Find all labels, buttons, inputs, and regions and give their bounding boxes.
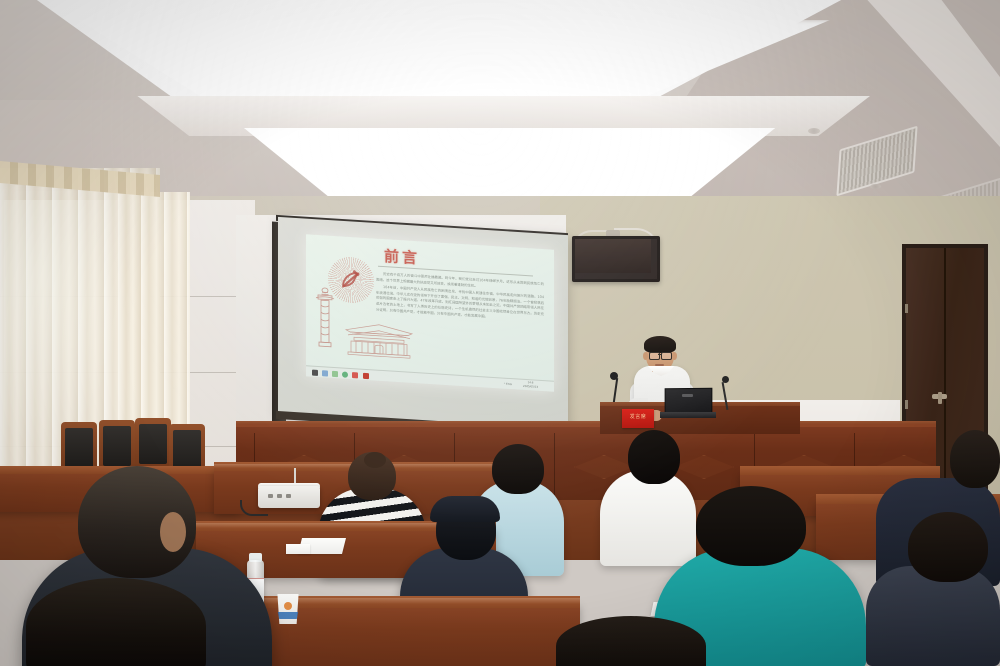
microphone-icon xyxy=(722,376,729,383)
cup-band xyxy=(277,612,299,619)
attendee-white-shirt xyxy=(600,470,696,566)
chair-cushion xyxy=(103,426,131,466)
handout-papers xyxy=(286,544,310,554)
speaker-mouth xyxy=(655,364,664,366)
projector-port xyxy=(277,494,282,498)
attendee-grey-suit xyxy=(866,566,1000,666)
eyeglasses-icon xyxy=(661,352,672,360)
door-lock-icon xyxy=(938,392,942,404)
door-hinge-icon xyxy=(905,400,908,409)
hair-bun xyxy=(364,452,386,468)
hammer-sickle-icon xyxy=(339,267,363,293)
clock-date: 2025/05/13 xyxy=(523,384,538,389)
door-hinge-icon xyxy=(905,304,908,313)
taskbar-clock[interactable]: 14:6 2025/05/13 xyxy=(523,381,538,389)
speaker-hair xyxy=(644,336,676,353)
projector-port xyxy=(268,494,273,498)
desk-top xyxy=(740,466,940,475)
speaker-nameplate: 发言席 xyxy=(622,409,654,428)
huabiao-column-icon xyxy=(314,285,336,348)
chair-cushion xyxy=(65,428,93,468)
conference-room-photo: 前言 历史有千百万人的奋斗中更声壮播撒幕。到今年，我们党已走过104年峥嵘岁月。… xyxy=(0,0,1000,666)
speaker-ear-left xyxy=(643,352,648,360)
attendee-front-left-head xyxy=(26,578,206,666)
laptop-keyboard[interactable] xyxy=(660,412,716,418)
attendee-light-blue-head xyxy=(492,444,544,494)
ear xyxy=(160,512,186,552)
baseball-cap-icon xyxy=(430,496,500,522)
downlight-icon xyxy=(808,128,820,134)
eyeglasses-bridge xyxy=(658,354,662,355)
start-icon[interactable] xyxy=(312,369,318,375)
laptop-logo-icon xyxy=(682,394,693,397)
chair-cushion xyxy=(139,424,167,464)
media-icon[interactable] xyxy=(352,372,358,378)
powerpoint-icon[interactable] xyxy=(363,372,369,378)
nameplate-text: 发言席 xyxy=(622,413,654,420)
tv-screen xyxy=(575,239,651,273)
attendee-teal-shirt-head xyxy=(696,486,806,566)
tray-language-indicator[interactable]: ^ ENG xyxy=(504,382,512,387)
panel-seam xyxy=(554,433,555,495)
projected-slide: 前言 历史有千百万人的奋斗中更声壮播撒幕。到今年，我们党已走过104年峥嵘岁月。… xyxy=(306,234,554,392)
chair-cushion xyxy=(173,430,201,470)
panel-diamond-motif xyxy=(674,455,734,479)
attendee-grey-suit-head xyxy=(908,512,988,582)
cup-logo-icon xyxy=(284,602,292,610)
attendee-white-shirt-head xyxy=(628,430,680,484)
downlight-icon xyxy=(870,184,881,189)
projector-port xyxy=(286,494,291,498)
search-icon[interactable] xyxy=(322,370,328,376)
browser-icon[interactable] xyxy=(342,371,348,377)
slide-body-text: 历史有千百万人的奋斗中更声壮播撒幕。到今年，我们党已走过104年峥嵘岁月。这形从… xyxy=(376,272,544,387)
curtain-daylight-glow xyxy=(4,200,124,450)
microphone-icon xyxy=(610,372,618,380)
slide-title: 前言 xyxy=(384,245,420,268)
door-center-seam xyxy=(944,248,946,506)
explorer-icon[interactable] xyxy=(332,370,338,376)
speaker-ear-right xyxy=(672,352,677,360)
attendee-dark-suit-head xyxy=(950,430,1000,488)
